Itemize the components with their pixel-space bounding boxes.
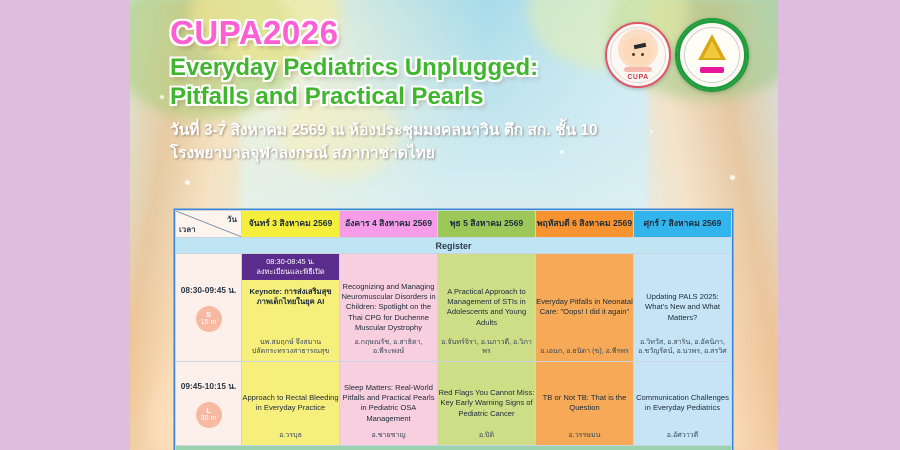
time-slot-label-1: 08:30-09:45 น. [176,283,241,297]
corner-day-label: วัน [227,213,237,226]
sparkle-decoration [730,175,735,180]
session-title-mon-1: Keynote: การส่งเสริมสุขภาพเด็กไทยในยุค A… [245,287,336,307]
day-header-tuesday[interactable]: อังคาร 4 สิงหาคม 2569 [340,211,438,238]
session-title-thu-2: TB or Not TB: That is the Question [536,393,633,413]
session-cell-fri-2[interactable]: Communication Challenges in Everyday Ped… [634,361,732,445]
session-size-badge-1: S 15 m [196,306,222,332]
coffee-break-row: Coffee break [176,445,732,450]
badge-duration-1: 15 m [201,319,217,326]
session-speaker-wed-1: อ.จันทร์จิรา, อ.นภาวดี, อ.วิภาพร [441,338,532,356]
session-speaker-fri-1: อ.วิทวัส, อ.สาริน, อ.อัคนิภา, อ.ชวัญรัตน… [637,338,728,356]
badge-duration-2: 30 m [201,415,217,422]
session-cell-wed-2[interactable]: Red Flags You Cannot Miss: Key Early War… [438,361,536,445]
session-title-thu-1: Everyday Pitfalls in Neonatal Care: "Oop… [536,297,633,317]
session-cell-mon-2[interactable]: Approach to Rectal Bleeding in Everyday … [242,361,340,445]
cupa-logo-base [624,67,652,72]
chula-logo-crown-inner [703,41,721,58]
schedule-row-1: 08:30-09:45 น. S 15 m 08:30-08:45 น. ลงท… [176,254,732,362]
opening-ceremony-bar: 08:30-08:45 น. ลงทะเบียนและพิธีเปิด [242,254,339,280]
session-cell-tue-1[interactable]: Recognizing and Managing Neuromuscular D… [340,254,438,362]
cupa-logo-label: CUPA [607,74,669,81]
corner-time-label: เวลา [179,223,196,236]
event-subtitle-line2: Pitfalls and Practical Pearls [170,82,640,111]
session-title-tue-1: Recognizing and Managing Neuromuscular D… [340,282,437,333]
session-title-wed-1: A Practical Approach to Management of ST… [438,287,535,328]
cupa-logo-icon: CUPA [605,22,671,88]
opening-ceremony-text: ลงทะเบียนและพิธีเปิด [244,267,337,277]
day-header-friday[interactable]: ศุกร์ 7 สิงหาคม 2569 [634,211,732,238]
session-cell-thu-2[interactable]: TB or Not TB: That is the Question อ.วรร… [536,361,634,445]
day-header-wednesday[interactable]: พุธ 5 สิงหาคม 2569 [438,211,536,238]
badge-size-2: L [206,407,211,415]
session-title-mon-2: Approach to Rectal Bleeding in Everyday … [242,393,339,413]
session-cell-mon-1[interactable]: 08:30-08:45 น. ลงทะเบียนและพิธีเปิด Keyn… [242,254,340,362]
schedule-header-row: วัน เวลา จันทร์ 3 สิงหาคม 2569 อังคาร 4 … [176,211,732,238]
sparkle-decoration [185,180,190,185]
chulalongkorn-university-logo-icon [675,18,749,92]
day-header-monday[interactable]: จันทร์ 3 สิงหาคม 2569 [242,211,340,238]
event-venue-line2: โรงพยาบาลจุฬาลงกรณ์ สภากาชาดไทย [170,142,640,165]
session-cell-fri-1[interactable]: Updating PALS 2025: What's New and What … [634,254,732,362]
chula-logo-plate [700,67,724,73]
session-title-fri-2: Communication Challenges in Everyday Ped… [634,393,731,413]
register-banner[interactable]: Register [176,238,732,254]
schedule-table: วัน เวลา จันทร์ 3 สิงหาคม 2569 อังคาร 4 … [175,210,732,450]
badge-size-1: S [206,311,211,319]
session-speaker-wed-2: อ.ปิติ [441,431,532,440]
time-slot-label-2: 09:45-10:15 น. [176,379,241,393]
session-speaker-fri-2: อ.อัศวาวตี [637,431,728,440]
sparkle-decoration [160,95,164,99]
session-speaker-thu-1: อ.เอนก, อ.ธนิดา (ข), อ.พีรพร [539,347,630,356]
register-row: Register [176,238,732,254]
session-size-badge-2: L 30 m [196,402,222,428]
session-title-tue-2: Sleep Matters: Real-World Pitfalls and P… [340,383,437,424]
time-day-corner-cell: วัน เวลา [176,211,242,238]
coffee-break-banner: Coffee break [176,445,732,450]
sparkle-decoration [650,130,653,133]
time-slot-cell-1: 08:30-09:45 น. S 15 m [176,254,242,362]
opening-ceremony-time: 08:30-08:45 น. [244,257,337,267]
session-speaker-thu-2: อ.วรรษมน [539,431,630,440]
event-brand-title: CUPA2026 [170,16,640,51]
session-speaker-mon-2: อ.วรบุธ [245,431,336,440]
session-speaker-tue-1: อ.กฤษณรัช, อ.สาธิดา, อ.พีระพงษ์ [343,338,434,356]
headline-block: CUPA2026 Everyday Pediatrics Unplugged: … [170,16,640,166]
event-date-venue-line1: วันที่ 3-7 สิงหาคม 2569 ณ ห้องประชุมมงคล… [170,119,640,142]
session-title-fri-1: Updating PALS 2025: What's New and What … [634,292,731,323]
session-speaker-tue-2: อ.ชายชาญ [343,431,434,440]
session-speaker-mon-1: นพ.สมฤกษ์ จึงสมาน ปลัดกระทรวงสาธารณสุข [245,338,336,356]
poster-page: CUPA2026 Everyday Pediatrics Unplugged: … [0,0,900,450]
session-title-wed-2: Red Flags You Cannot Miss: Key Early War… [438,388,535,419]
session-cell-tue-2[interactable]: Sleep Matters: Real-World Pitfalls and P… [340,361,438,445]
schedule-row-2: 09:45-10:15 น. L 30 m Approach to Rectal… [176,361,732,445]
cupa-logo-face [623,36,653,66]
session-cell-thu-1[interactable]: Everyday Pitfalls in Neonatal Care: "Oop… [536,254,634,362]
time-slot-cell-2: 09:45-10:15 น. L 30 m [176,361,242,445]
cupa-logo-eye [641,53,644,56]
session-cell-wed-1[interactable]: A Practical Approach to Management of ST… [438,254,536,362]
event-subtitle-line1: Everyday Pediatrics Unplugged: [170,53,640,82]
day-header-thursday[interactable]: พฤหัสบดี 6 สิงหาคม 2569 [536,211,634,238]
